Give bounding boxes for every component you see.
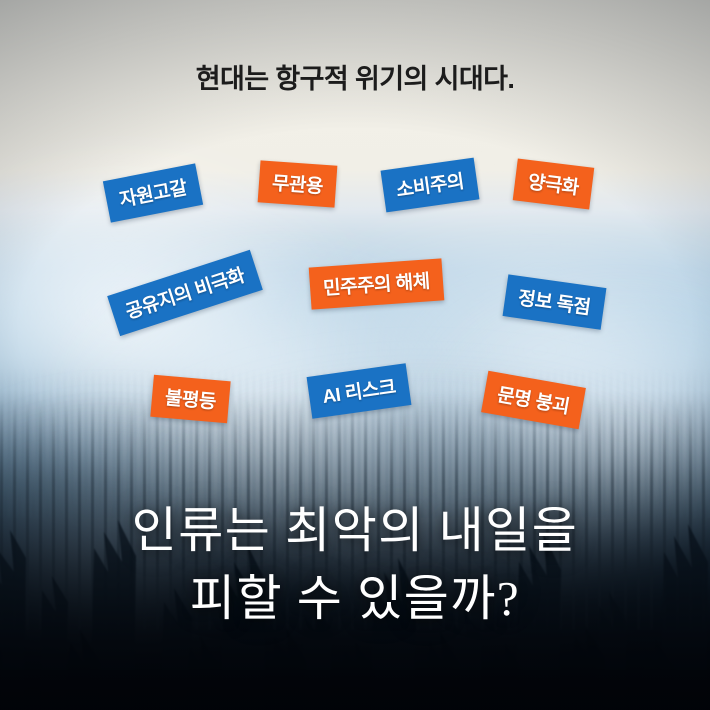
crisis-tag[interactable]: 민주주의 해체	[309, 258, 444, 309]
crisis-tag[interactable]: 양극화	[513, 158, 594, 209]
headline-line-1: 인류는 최악의 내일을	[0, 497, 710, 565]
crisis-tag[interactable]: 공유지의 비극화	[107, 250, 262, 336]
crisis-tag[interactable]: AI 리스크	[307, 363, 412, 418]
crisis-tag[interactable]: 무관용	[258, 160, 338, 207]
headline-line-2: 피할 수 있을까?	[0, 565, 710, 633]
crisis-tag[interactable]: 불평등	[150, 375, 230, 424]
crisis-tag[interactable]: 자원고갈	[103, 163, 203, 222]
page-title: 현대는 항구적 위기의 시대다.	[0, 57, 710, 96]
crisis-tag[interactable]: 정보 독점	[503, 274, 607, 329]
card-news-slide: 현대는 항구적 위기의 시대다. 자원고갈무관용소비주의양극화공유지의 비극화민…	[0, 0, 710, 710]
crisis-tag[interactable]: 소비주의	[381, 158, 480, 213]
headline: 인류는 최악의 내일을 피할 수 있을까?	[0, 497, 710, 632]
crisis-tag[interactable]: 문명 붕괴	[481, 371, 585, 430]
